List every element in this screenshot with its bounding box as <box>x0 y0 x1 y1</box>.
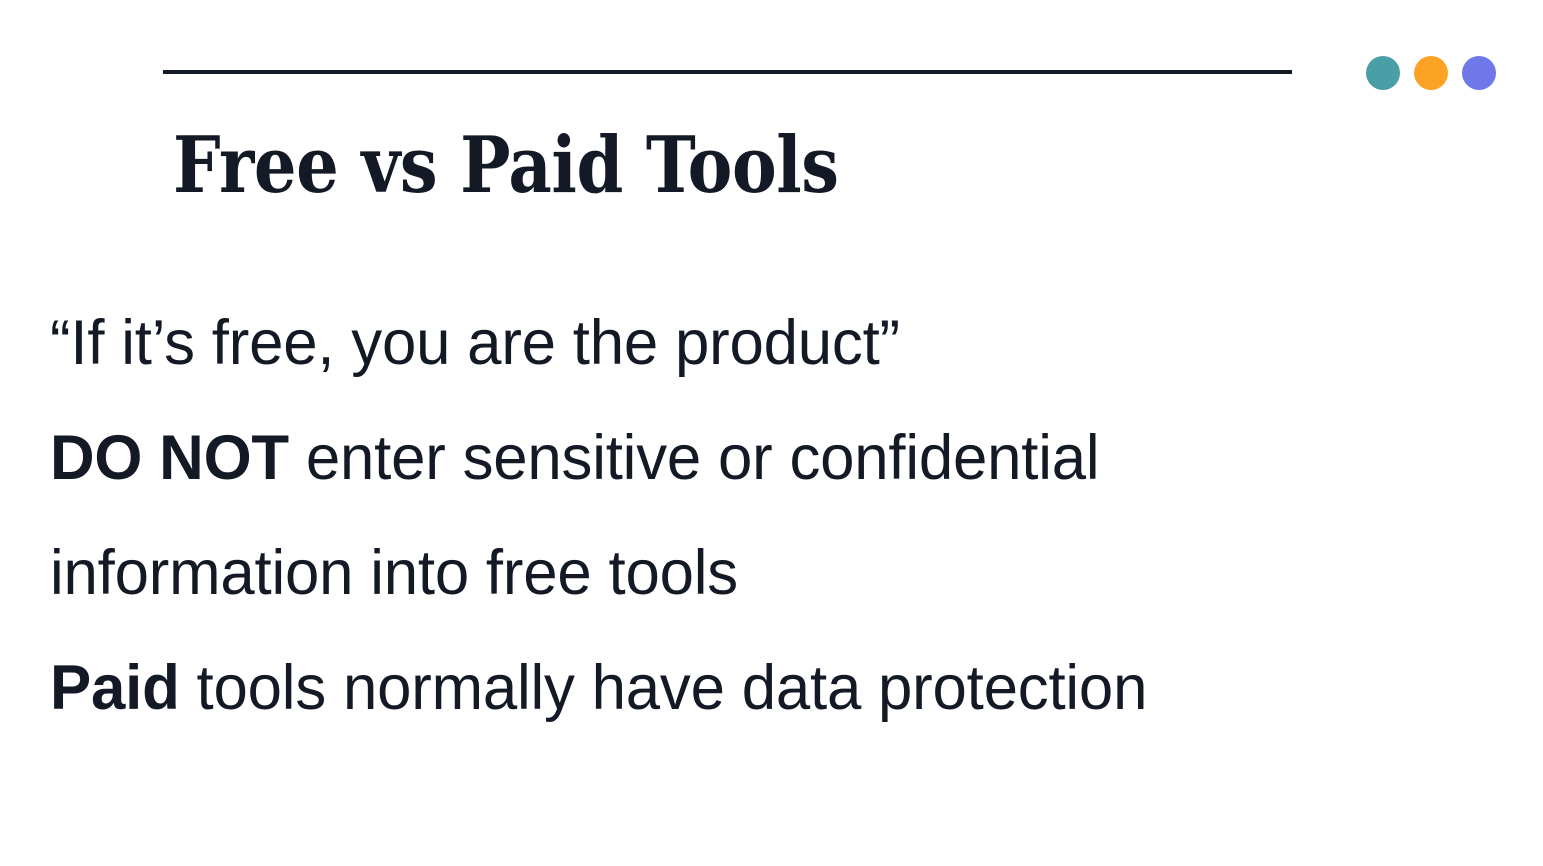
body-line-4: Paid tools normally have data protection <box>50 631 1500 746</box>
decorative-dot-group <box>1366 56 1496 90</box>
orange-dot-icon <box>1414 56 1448 90</box>
blue-dot-icon <box>1462 56 1496 90</box>
body-line-3: information into free tools <box>50 516 1500 631</box>
slide-root: Free vs Paid Tools “If it’s free, you ar… <box>0 0 1543 866</box>
body-emphasis: DO NOT <box>50 423 289 493</box>
page-title: Free vs Paid Tools <box>173 127 839 205</box>
body-emphasis: Paid <box>50 653 180 723</box>
body-copy-block: “If it’s free, you are the product” DO N… <box>50 286 1530 746</box>
body-line-1: “If it’s free, you are the product” <box>50 286 1500 401</box>
teal-dot-icon <box>1366 56 1400 90</box>
header-divider-rule <box>163 70 1292 74</box>
body-line-2: DO NOT enter sensitive or confidential <box>50 401 1500 516</box>
